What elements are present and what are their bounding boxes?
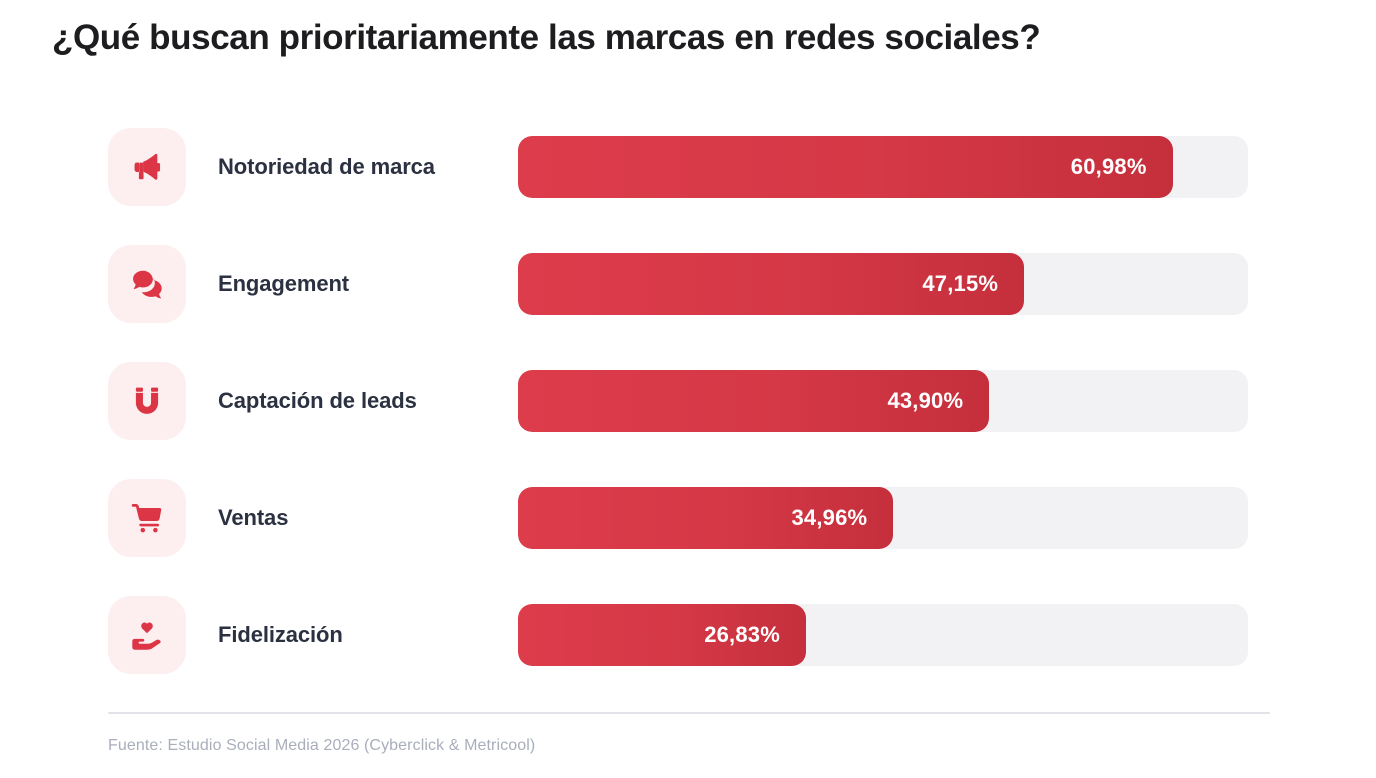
chat-bubbles-icon bbox=[129, 266, 165, 302]
bar-chart-rows: Notoriedad de marca 60,98% Engagement 47… bbox=[108, 128, 1248, 674]
icon-tile bbox=[108, 479, 186, 557]
icon-tile bbox=[108, 245, 186, 323]
bar-value-label: 47,15% bbox=[922, 271, 1024, 297]
bar-row-label: Ventas bbox=[186, 505, 518, 531]
bar-row: Engagement 47,15% bbox=[108, 245, 1248, 323]
magnet-icon bbox=[129, 383, 165, 419]
bar-row-label: Engagement bbox=[186, 271, 518, 297]
bar-track: 34,96% bbox=[518, 487, 1248, 549]
bar-row: Notoriedad de marca 60,98% bbox=[108, 128, 1248, 206]
bar-track: 60,98% bbox=[518, 136, 1248, 198]
icon-tile bbox=[108, 362, 186, 440]
bar-value-label: 34,96% bbox=[791, 505, 893, 531]
bar-row: Fidelización 26,83% bbox=[108, 596, 1248, 674]
bar-value-label: 43,90% bbox=[887, 388, 989, 414]
icon-tile bbox=[108, 596, 186, 674]
bar-fill: 26,83% bbox=[518, 604, 806, 666]
bar-track: 26,83% bbox=[518, 604, 1248, 666]
page-title: ¿Qué buscan prioritariamente las marcas … bbox=[52, 16, 1342, 60]
bar-row-label: Notoriedad de marca bbox=[186, 154, 518, 180]
bar-row: Captación de leads 43,90% bbox=[108, 362, 1248, 440]
icon-tile bbox=[108, 128, 186, 206]
bar-fill: 47,15% bbox=[518, 253, 1024, 315]
hand-heart-icon bbox=[129, 617, 165, 653]
bar-track: 47,15% bbox=[518, 253, 1248, 315]
shopping-cart-icon bbox=[129, 500, 165, 536]
bar-fill: 43,90% bbox=[518, 370, 989, 432]
megaphone-icon bbox=[129, 149, 165, 185]
source-note: Fuente: Estudio Social Media 2026 (Cyber… bbox=[108, 737, 535, 755]
bar-row-label: Captación de leads bbox=[186, 388, 518, 414]
bar-fill: 34,96% bbox=[518, 487, 893, 549]
bar-row: Ventas 34,96% bbox=[108, 479, 1248, 557]
bar-value-label: 26,83% bbox=[704, 622, 806, 648]
infographic-canvas: ¿Qué buscan prioritariamente las marcas … bbox=[0, 0, 1376, 778]
footer-divider bbox=[108, 712, 1270, 714]
bar-fill: 60,98% bbox=[518, 136, 1173, 198]
bar-value-label: 60,98% bbox=[1071, 154, 1173, 180]
bar-row-label: Fidelización bbox=[186, 622, 518, 648]
bar-track: 43,90% bbox=[518, 370, 1248, 432]
